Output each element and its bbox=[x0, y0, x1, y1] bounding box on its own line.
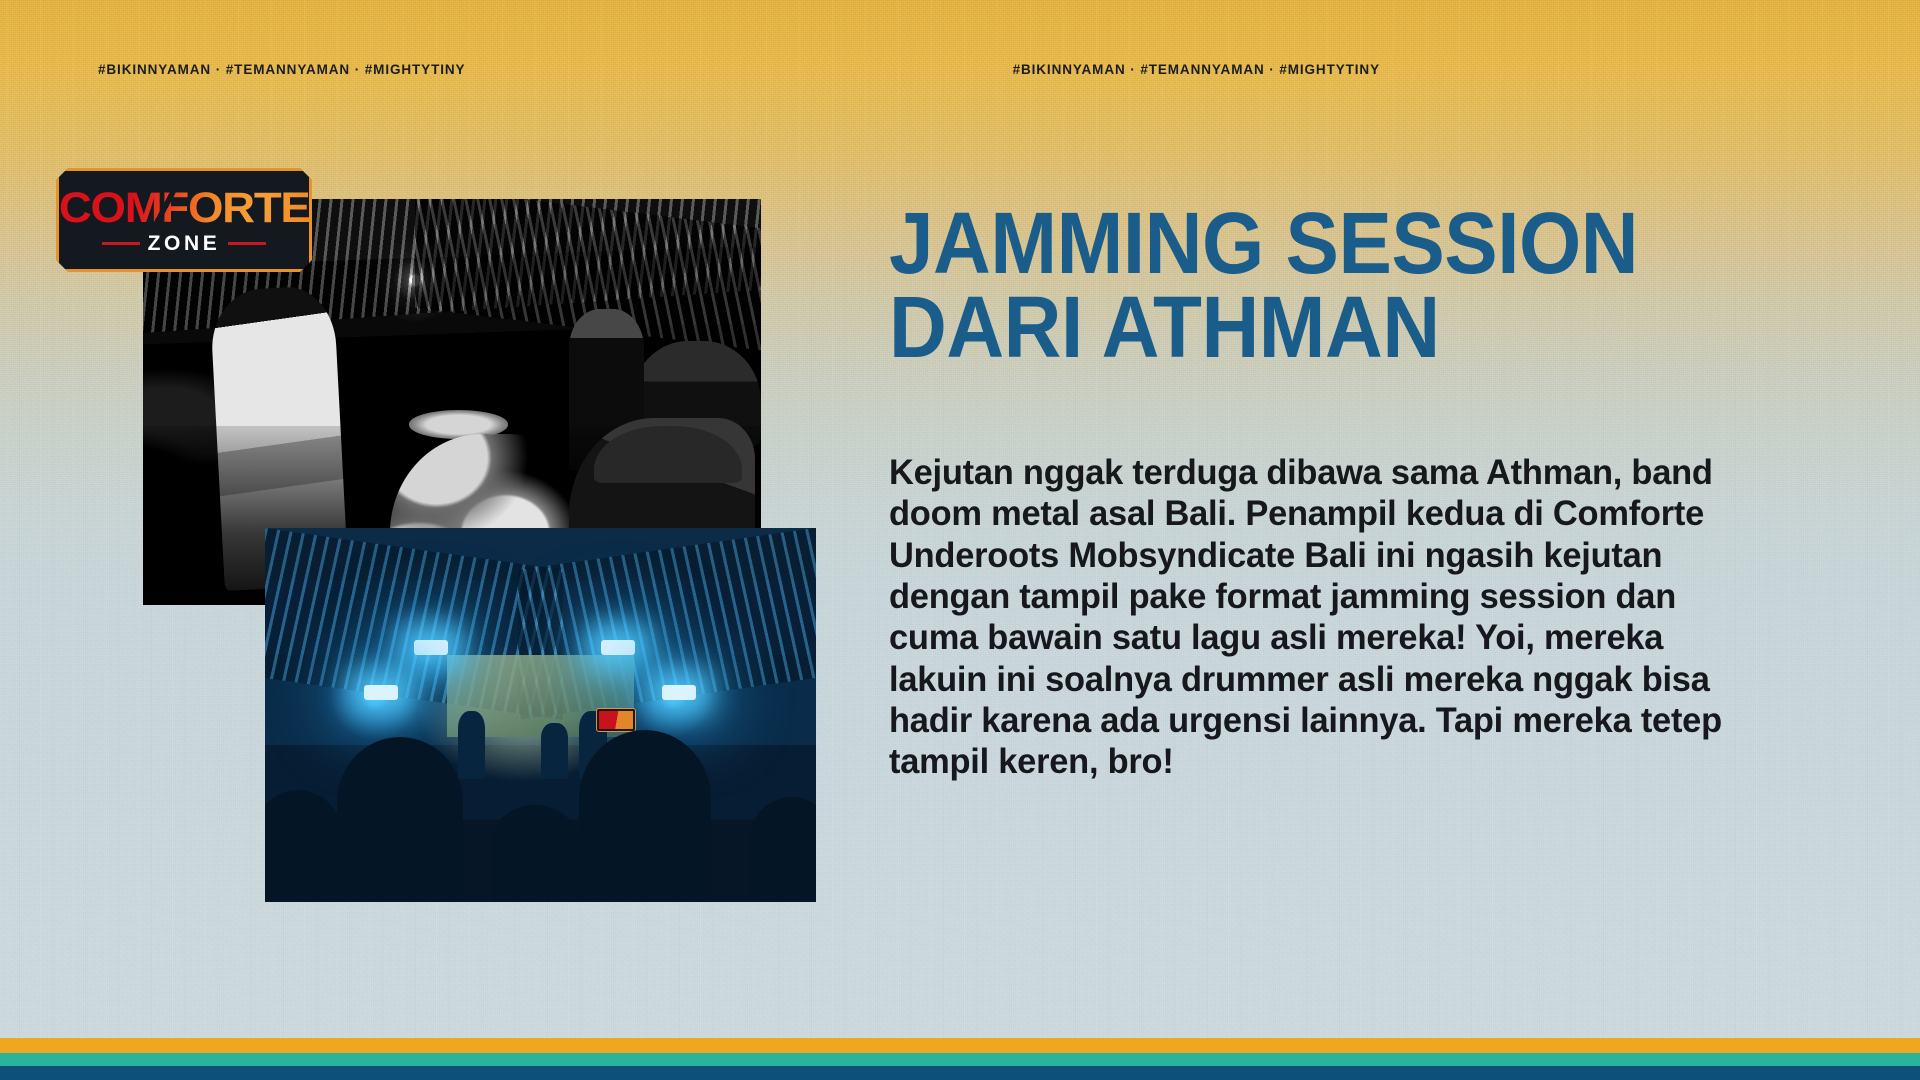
blue-band-member-1 bbox=[458, 711, 486, 778]
blue-band-member-2 bbox=[541, 723, 569, 779]
slide-canvas: #BIKINNYAMAN · #TEMANNYAMAN · #MIGHTYTIN… bbox=[0, 0, 1920, 1080]
stripe-orange bbox=[0, 1038, 1920, 1053]
logo-rule-left bbox=[102, 242, 140, 245]
stage-light-2 bbox=[601, 640, 635, 655]
logo-inner: COMFORTE ZONE bbox=[59, 171, 309, 269]
blue-comforte-banner bbox=[596, 708, 637, 732]
stage-light-3 bbox=[364, 685, 398, 700]
photo-venue-crowd-blue bbox=[265, 528, 816, 902]
stage-light-1 bbox=[414, 640, 448, 655]
page-title: Jamming Session Dari Athman bbox=[889, 202, 1745, 371]
crowd-silhouette-3 bbox=[491, 805, 579, 902]
stage-light-4 bbox=[662, 685, 696, 700]
crowd-silhouette-4 bbox=[579, 730, 711, 902]
crowd-silhouette-1 bbox=[265, 790, 342, 902]
stripe-teal bbox=[0, 1053, 1920, 1066]
logo-wordmark: COMFORTE bbox=[59, 187, 310, 230]
hashtags-left: #BIKINNYAMAN · #TEMANNYAMAN · #MIGHTYTIN… bbox=[98, 62, 465, 77]
headline-line-2: Dari Athman bbox=[889, 286, 1745, 370]
logo-rule-right bbox=[228, 242, 266, 245]
footer-stripes bbox=[0, 1038, 1920, 1080]
hashtags-right: #BIKINNYAMAN · #TEMANNYAMAN · #MIGHTYTIN… bbox=[1013, 62, 1380, 77]
headline-line-1: Jamming Session bbox=[889, 202, 1745, 286]
logo-zone-text: ZONE bbox=[148, 233, 221, 254]
stripe-blue bbox=[0, 1066, 1920, 1080]
body-paragraph: Kejutan nggak terduga dibawa sama Athman… bbox=[889, 452, 1767, 783]
comforte-zone-logo[interactable]: COMFORTE ZONE bbox=[56, 168, 312, 272]
crowd-silhouette-5 bbox=[750, 797, 816, 902]
crowd-silhouette-2 bbox=[337, 737, 464, 902]
logo-subline: ZONE bbox=[59, 233, 309, 254]
